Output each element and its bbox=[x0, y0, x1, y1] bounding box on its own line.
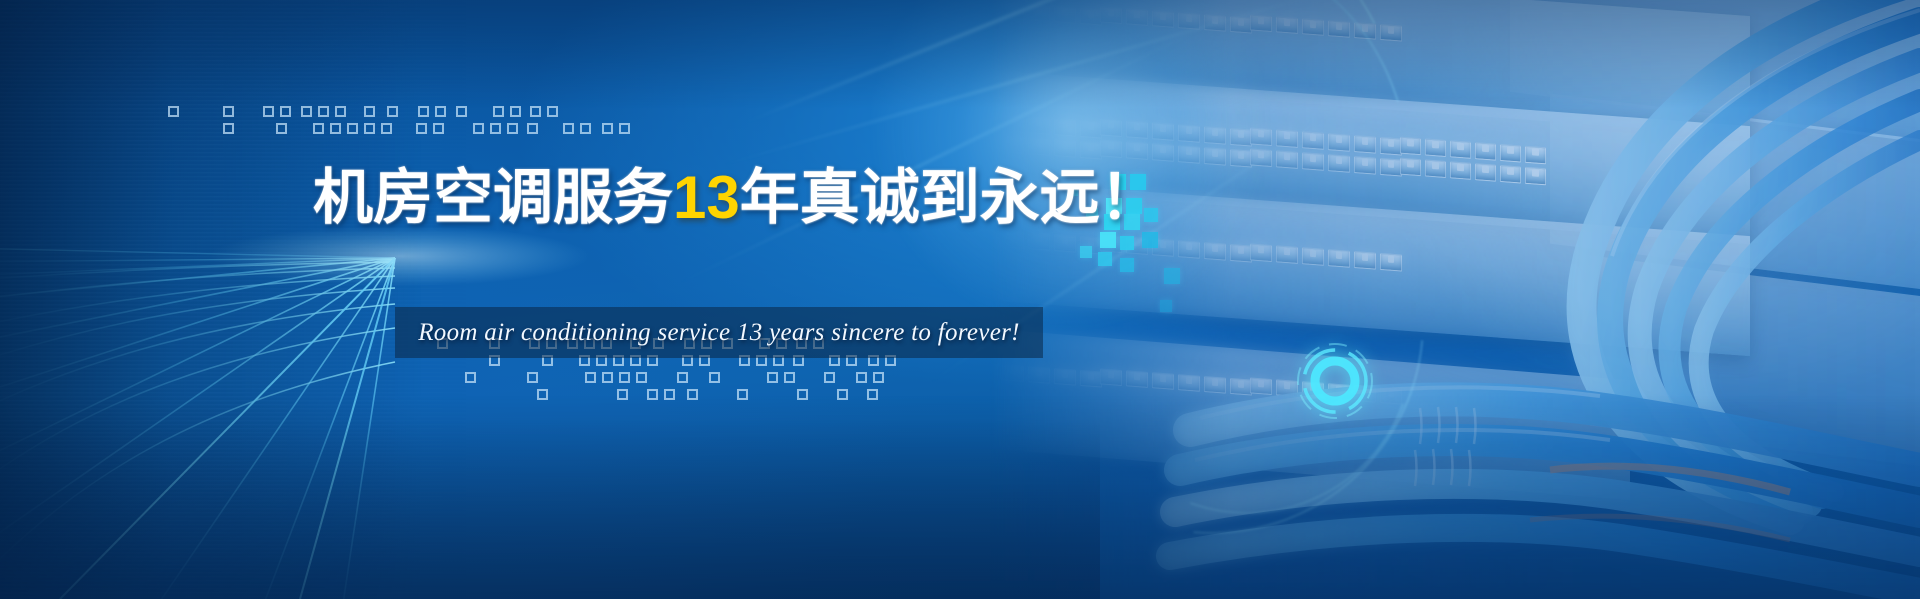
pixel-square bbox=[416, 123, 427, 134]
mosaic-square bbox=[1100, 232, 1116, 248]
pixel-square bbox=[824, 372, 835, 383]
mosaic-square bbox=[1164, 268, 1180, 284]
pixel-square bbox=[687, 389, 698, 400]
pixel-square bbox=[617, 389, 628, 400]
pixel-square bbox=[276, 123, 287, 134]
pixel-square bbox=[223, 123, 234, 134]
pixel-square bbox=[636, 372, 647, 383]
pixel-square bbox=[867, 389, 878, 400]
pixel-square bbox=[530, 106, 541, 117]
pixel-square bbox=[168, 106, 179, 117]
pixel-square bbox=[677, 372, 688, 383]
pixel-square bbox=[797, 389, 808, 400]
mosaic-square bbox=[1160, 300, 1172, 312]
pixel-square bbox=[837, 389, 848, 400]
hud-ring-icon bbox=[1292, 338, 1378, 424]
pixel-square bbox=[330, 123, 341, 134]
pixel-square bbox=[490, 123, 501, 134]
pixel-square bbox=[647, 389, 658, 400]
pixel-square bbox=[280, 106, 291, 117]
pixel-square bbox=[347, 123, 358, 134]
pixel-square bbox=[602, 372, 613, 383]
pixel-square bbox=[507, 123, 518, 134]
pixel-square bbox=[465, 372, 476, 383]
headline-punctuation: ！ bbox=[1100, 164, 1158, 231]
pixel-square bbox=[473, 123, 484, 134]
pixel-square bbox=[418, 106, 429, 117]
pixel-square bbox=[619, 123, 630, 134]
pixel-square bbox=[364, 123, 375, 134]
pixel-square bbox=[313, 123, 324, 134]
pixel-square bbox=[784, 372, 795, 383]
pixel-square bbox=[493, 106, 504, 117]
pixel-square bbox=[737, 389, 748, 400]
subtitle-text: Room air conditioning service 13 years s… bbox=[418, 319, 1020, 347]
pixel-square bbox=[527, 123, 538, 134]
headline-highlight-number: 13 bbox=[673, 164, 740, 231]
headline-part1: 机房空调服务 bbox=[313, 164, 673, 231]
bottom-shade bbox=[0, 419, 1100, 599]
pixel-square bbox=[547, 106, 558, 117]
pixel-square bbox=[664, 389, 675, 400]
pixel-square bbox=[873, 372, 884, 383]
pixel-square bbox=[767, 372, 778, 383]
pixel-square bbox=[318, 106, 329, 117]
subtitle: Room air conditioning service 13 years s… bbox=[395, 307, 1043, 358]
pixel-square bbox=[580, 123, 591, 134]
headline: 机房空调服务13年真诚到永远！ bbox=[313, 168, 1158, 228]
pixel-square bbox=[335, 106, 346, 117]
mosaic-square bbox=[1120, 258, 1134, 272]
pixel-square bbox=[263, 106, 274, 117]
pixel-square bbox=[456, 106, 467, 117]
pixel-square bbox=[433, 123, 444, 134]
pixel-square bbox=[435, 106, 446, 117]
pixel-square bbox=[537, 389, 548, 400]
pixel-square bbox=[364, 106, 375, 117]
mosaic-square bbox=[1120, 236, 1134, 250]
pixel-square bbox=[381, 123, 392, 134]
mosaic-square bbox=[1142, 232, 1158, 248]
pixel-square bbox=[301, 106, 312, 117]
mosaic-square bbox=[1098, 252, 1112, 266]
pixel-square bbox=[510, 106, 521, 117]
pixel-square bbox=[585, 372, 596, 383]
headline-part2: 年真诚到永远 bbox=[740, 164, 1100, 231]
pixel-square bbox=[709, 372, 720, 383]
mosaic-square bbox=[1080, 246, 1092, 258]
pixel-square bbox=[856, 372, 867, 383]
pixel-square bbox=[527, 372, 538, 383]
pixel-square bbox=[223, 106, 234, 117]
pixel-square bbox=[619, 372, 630, 383]
hero-banner: 机房空调服务13年真诚到永远！ Room air conditioning se… bbox=[0, 0, 1920, 599]
pixel-square bbox=[387, 106, 398, 117]
pixel-square bbox=[602, 123, 613, 134]
pixel-square bbox=[563, 123, 574, 134]
